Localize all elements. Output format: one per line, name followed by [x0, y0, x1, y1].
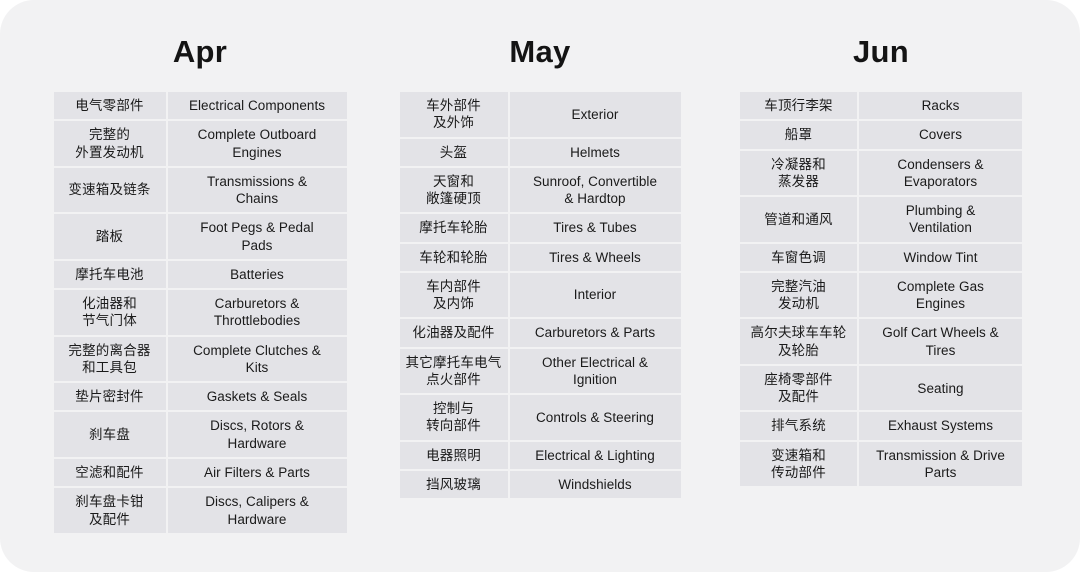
category-label-zh: 车窗色调 — [740, 244, 857, 271]
category-label-en: Gaskets & Seals — [168, 383, 347, 410]
category-label-zh: 电气零部件 — [54, 92, 166, 119]
category-label-en: Batteries — [168, 261, 347, 288]
category-label-zh: 完整汽油发动机 — [740, 273, 857, 318]
category-label-en: Electrical Components — [168, 92, 347, 119]
table-row: 电气零部件Electrical Components — [54, 92, 347, 119]
category-label-en: Exhaust Systems — [859, 412, 1022, 439]
category-label-en: Air Filters & Parts — [168, 459, 347, 486]
table-row: 船罩Covers — [740, 121, 1022, 148]
category-label-en: Exterior — [510, 92, 681, 137]
category-label-en: Complete Clutches &Kits — [168, 337, 347, 382]
category-label-en: Interior — [510, 273, 681, 318]
table-row: 天窗和敞篷硬顶Sunroof, Convertible& Hardtop — [400, 168, 681, 213]
table-body-may: 车外部件及外饰Exterior头盔Helmets天窗和敞篷硬顶Sunroof, … — [400, 92, 681, 498]
category-label-en: Tires & Tubes — [510, 214, 681, 241]
table-row: 电器照明Electrical & Lighting — [400, 442, 681, 469]
category-label-zh: 座椅零部件及配件 — [740, 366, 857, 411]
category-label-zh: 完整的外置发动机 — [54, 121, 166, 166]
category-label-zh: 刹车盘 — [54, 412, 166, 457]
category-label-zh: 冷凝器和蒸发器 — [740, 151, 857, 196]
category-label-zh: 天窗和敞篷硬顶 — [400, 168, 508, 213]
category-label-zh: 船罩 — [740, 121, 857, 148]
table-row: 控制与转向部件Controls & Steering — [400, 395, 681, 440]
category-label-en: Plumbing &Ventilation — [859, 197, 1022, 242]
category-panel: Apr 电气零部件Electrical Components完整的外置发动机Co… — [0, 0, 1080, 572]
table-row: 刹车盘卡钳及配件Discs, Calipers &Hardware — [54, 488, 347, 533]
category-label-en: Tires & Wheels — [510, 244, 681, 271]
table-row: 刹车盘Discs, Rotors &Hardware — [54, 412, 347, 457]
category-label-zh: 其它摩托车电气点火部件 — [400, 349, 508, 394]
table-row: 变速箱和传动部件Transmission & DriveParts — [740, 442, 1022, 487]
category-label-zh: 车顶行李架 — [740, 92, 857, 119]
category-label-en: Window Tint — [859, 244, 1022, 271]
month-column-jun: Jun 车顶行李架Racks船罩Covers冷凝器和蒸发器Condensers … — [710, 0, 1080, 488]
table-row: 完整的离合器和工具包Complete Clutches &Kits — [54, 337, 347, 382]
category-label-en: Racks — [859, 92, 1022, 119]
table-row: 完整汽油发动机Complete GasEngines — [740, 273, 1022, 318]
table-row: 冷凝器和蒸发器Condensers &Evaporators — [740, 151, 1022, 196]
category-label-zh: 变速箱和传动部件 — [740, 442, 857, 487]
category-label-zh: 排气系统 — [740, 412, 857, 439]
category-label-zh: 高尔夫球车车轮及轮胎 — [740, 319, 857, 364]
category-label-zh: 电器照明 — [400, 442, 508, 469]
table-row: 挡风玻璃Windshields — [400, 471, 681, 498]
table-row: 管道和通风Plumbing &Ventilation — [740, 197, 1022, 242]
table-row: 完整的外置发动机Complete OutboardEngines — [54, 121, 347, 166]
category-label-zh: 挡风玻璃 — [400, 471, 508, 498]
table-row: 车轮和轮胎Tires & Wheels — [400, 244, 681, 271]
table-row: 空滤和配件Air Filters & Parts — [54, 459, 347, 486]
category-label-en: Electrical & Lighting — [510, 442, 681, 469]
category-label-zh: 化油器和节气门体 — [54, 290, 166, 335]
category-label-en: Sunroof, Convertible& Hardtop — [510, 168, 681, 213]
table-body-jun: 车顶行李架Racks船罩Covers冷凝器和蒸发器Condensers &Eva… — [740, 92, 1022, 486]
category-label-zh: 控制与转向部件 — [400, 395, 508, 440]
table-row: 高尔夫球车车轮及轮胎Golf Cart Wheels &Tires — [740, 319, 1022, 364]
category-label-en: Condensers &Evaporators — [859, 151, 1022, 196]
category-label-zh: 车内部件及内饰 — [400, 273, 508, 318]
table-row: 化油器和节气门体Carburetors &Throttlebodies — [54, 290, 347, 335]
category-table-may: 车外部件及外饰Exterior头盔Helmets天窗和敞篷硬顶Sunroof, … — [398, 90, 683, 500]
table-row: 其它摩托车电气点火部件Other Electrical &Ignition — [400, 349, 681, 394]
table-row: 化油器及配件Carburetors & Parts — [400, 319, 681, 346]
table-body-apr: 电气零部件Electrical Components完整的外置发动机Comple… — [54, 92, 347, 533]
category-label-en: Carburetors &Throttlebodies — [168, 290, 347, 335]
category-table-apr: 电气零部件Electrical Components完整的外置发动机Comple… — [52, 90, 349, 535]
table-row: 车外部件及外饰Exterior — [400, 92, 681, 137]
table-row: 排气系统Exhaust Systems — [740, 412, 1022, 439]
table-row: 车窗色调Window Tint — [740, 244, 1022, 271]
category-label-zh: 头盔 — [400, 139, 508, 166]
month-title-jun: Jun — [853, 36, 909, 67]
category-label-zh: 摩托车电池 — [54, 261, 166, 288]
category-label-en: Covers — [859, 121, 1022, 148]
month-title-may: May — [509, 36, 570, 67]
category-label-zh: 空滤和配件 — [54, 459, 166, 486]
category-label-zh: 变速箱及链条 — [54, 168, 166, 213]
category-label-zh: 车轮和轮胎 — [400, 244, 508, 271]
category-label-en: Controls & Steering — [510, 395, 681, 440]
category-label-zh: 垫片密封件 — [54, 383, 166, 410]
category-label-zh: 刹车盘卡钳及配件 — [54, 488, 166, 533]
month-column-apr: Apr 电气零部件Electrical Components完整的外置发动机Co… — [0, 0, 370, 535]
category-label-en: Transmission & DriveParts — [859, 442, 1022, 487]
month-columns: Apr 电气零部件Electrical Components完整的外置发动机Co… — [0, 0, 1080, 572]
category-label-en: Seating — [859, 366, 1022, 411]
category-label-en: Other Electrical &Ignition — [510, 349, 681, 394]
category-label-en: Discs, Calipers &Hardware — [168, 488, 347, 533]
table-row: 摩托车轮胎Tires & Tubes — [400, 214, 681, 241]
category-label-zh: 车外部件及外饰 — [400, 92, 508, 137]
category-label-en: Helmets — [510, 139, 681, 166]
table-row: 垫片密封件Gaskets & Seals — [54, 383, 347, 410]
category-label-en: Foot Pegs & PedalPads — [168, 214, 347, 259]
month-column-may: May 车外部件及外饰Exterior头盔Helmets天窗和敞篷硬顶Sunro… — [370, 0, 710, 500]
category-label-en: Carburetors & Parts — [510, 319, 681, 346]
month-title-apr: Apr — [173, 36, 227, 67]
table-row: 摩托车电池Batteries — [54, 261, 347, 288]
table-row: 踏板Foot Pegs & PedalPads — [54, 214, 347, 259]
category-table-jun: 车顶行李架Racks船罩Covers冷凝器和蒸发器Condensers &Eva… — [738, 90, 1024, 488]
table-row: 头盔Helmets — [400, 139, 681, 166]
category-label-en: Transmissions &Chains — [168, 168, 347, 213]
table-row: 变速箱及链条Transmissions &Chains — [54, 168, 347, 213]
category-label-en: Golf Cart Wheels &Tires — [859, 319, 1022, 364]
category-label-en: Complete GasEngines — [859, 273, 1022, 318]
category-label-en: Complete OutboardEngines — [168, 121, 347, 166]
category-label-zh: 踏板 — [54, 214, 166, 259]
category-label-zh: 管道和通风 — [740, 197, 857, 242]
category-label-zh: 化油器及配件 — [400, 319, 508, 346]
table-row: 车顶行李架Racks — [740, 92, 1022, 119]
category-label-en: Windshields — [510, 471, 681, 498]
category-label-en: Discs, Rotors &Hardware — [168, 412, 347, 457]
category-label-zh: 摩托车轮胎 — [400, 214, 508, 241]
table-row: 座椅零部件及配件Seating — [740, 366, 1022, 411]
table-row: 车内部件及内饰Interior — [400, 273, 681, 318]
category-label-zh: 完整的离合器和工具包 — [54, 337, 166, 382]
